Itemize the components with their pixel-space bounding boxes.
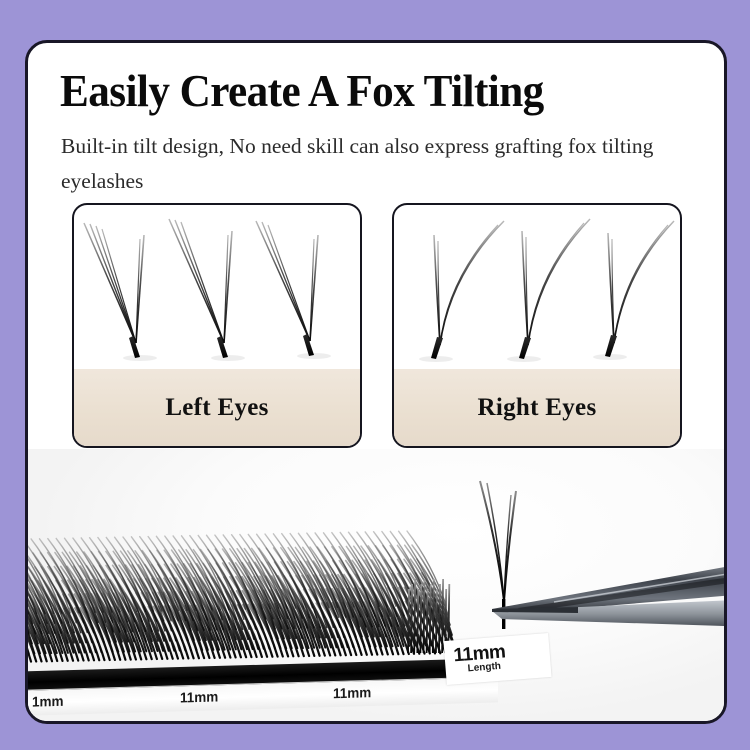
content-card: Easily Create A Fox Tilting Built-in til… [25, 40, 727, 724]
product-feature-image: Easily Create A Fox Tilting Built-in til… [0, 0, 750, 750]
lash-fan-tilt-right-icon [394, 205, 680, 373]
product-photo: 1mm 11mm 11mm 11mm Length [28, 449, 724, 721]
eyelash-extension-tray [28, 477, 474, 689]
panel-right-eyes: Right Eyes [392, 203, 682, 448]
page-title: Easily Create A Fox Tilting [60, 65, 544, 117]
panel-left-eyes-label: Left Eyes [74, 369, 360, 446]
lash-tweezers [458, 469, 724, 669]
ruler-label: 11mm [180, 689, 218, 706]
panel-left-eyes: Left Eyes [72, 203, 362, 448]
panel-right-eyes-label: Right Eyes [394, 369, 680, 446]
page-subtitle: Built-in tilt design, No need skill can … [61, 129, 686, 199]
ruler-label: 1mm [32, 693, 64, 710]
ruler-label: 11mm [333, 685, 371, 702]
lash-fan-tilt-left-icon [74, 205, 360, 373]
